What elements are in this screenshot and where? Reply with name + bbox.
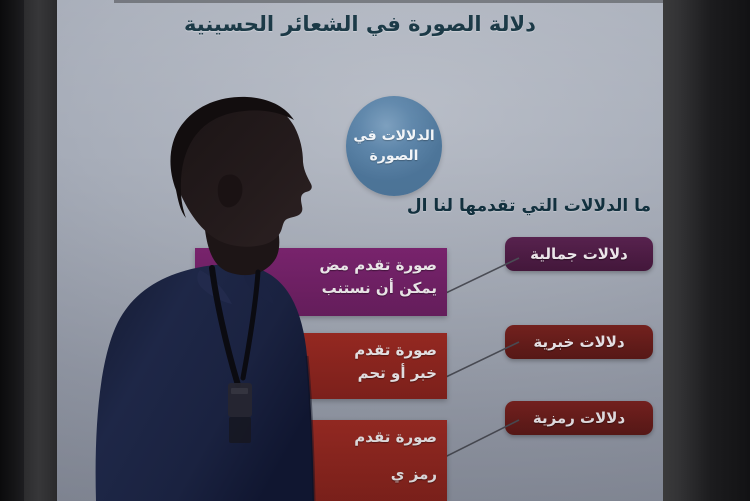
description-line-1: صورة تقدم (205, 339, 437, 362)
description-line-2: رمز ي (205, 463, 437, 486)
description-box-symbolic: صورة تقدم رمز ي (195, 420, 447, 501)
center-node-line-2: الصورة (370, 148, 419, 164)
category-tag-symbolic: دلالات رمزية (505, 401, 653, 435)
slide-question-text: ما الدلالات التي تقدمها لنا ال (407, 196, 651, 216)
slide-title: دلالة الصورة في الشعائر الحسينية (57, 12, 663, 36)
center-node-text: الدلالات في الصورة (353, 126, 434, 167)
center-node-line-1: الدلالات في (353, 128, 434, 144)
projection-screen: دلالة الصورة في الشعائر الحسينية الدلالا… (57, 0, 663, 501)
description-line-1: صورة تقدم (205, 426, 437, 449)
description-box-informative: صورة تقدم خبر أو تحم (195, 333, 447, 399)
category-tag-aesthetic: دلالات جمالية (505, 237, 653, 271)
room-dark-left (0, 0, 24, 501)
room-dark-right (663, 0, 750, 501)
description-line-1: صورة تقدم مض (205, 254, 437, 277)
description-line-2: يمكن أن نستنب (205, 277, 437, 300)
description-line-2: خبر أو تحم (205, 362, 437, 385)
screen-frame-top (114, 0, 663, 3)
screenshot-root: دلالة الصورة في الشعائر الحسينية الدلالا… (0, 0, 750, 501)
description-box-aesthetic: صورة تقدم مض يمكن أن نستنب (195, 248, 447, 316)
center-node-bubble: الدلالات في الصورة (346, 96, 442, 196)
category-tag-informative: دلالات خبرية (505, 325, 653, 359)
screen-frame-left (24, 0, 57, 501)
